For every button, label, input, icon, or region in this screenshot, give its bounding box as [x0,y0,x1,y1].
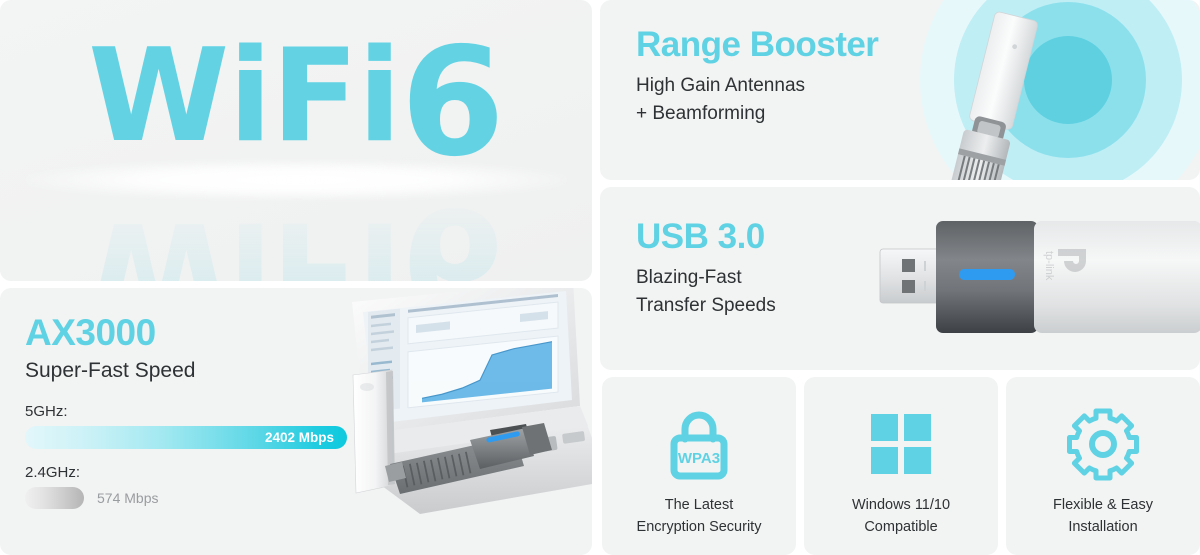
panel-usb3: USB 3.0 Blazing-Fast Transfer Speeds [600,187,1200,370]
feature-card-windows-text: Windows 11/10 Compatible [852,495,950,539]
wifi6-floor-glow [24,160,569,200]
usb3-line1: Blazing-Fast [636,267,742,289]
speed-band-5ghz: 5GHz: 2402 Mbps [25,403,349,449]
feature-card-installation: Flexible & Easy Installation [1006,377,1200,555]
feature-card-encryption-line1: The Latest [637,495,762,517]
wifi6-wordmark: WiFi6 [88,28,504,178]
feature-card-windows: Windows 11/10 Compatible [804,377,998,555]
speed-band-24ghz-label: 2.4GHz: [25,464,349,481]
panel-range-booster: Range Booster High Gain Antennas + Beamf… [600,0,1200,180]
feature-card-installation-text: Flexible & Easy Installation [1053,495,1153,539]
feature-card-encryption-line2: Encryption Security [637,517,762,539]
range-booster-title: Range Booster [636,25,878,65]
usb3-adapter-image: tp-link [876,209,1200,349]
feature-card-encryption-text: The Latest Encryption Security [637,495,762,539]
windows-logo-icon [867,405,935,483]
product-feature-graphic: WiFi6 WiFi6 AX3000 Super-Fast Speed 5GHz… [0,0,1200,555]
usb-adapter-light-body: tp-link [1034,221,1200,333]
usb3-line2: Transfer Speeds [636,295,776,317]
usb-a-connector [880,249,942,303]
laptop-with-adapter-photo [330,288,592,555]
feature-card-windows-line1: Windows 11/10 [852,495,950,517]
panel-wifi6: WiFi6 WiFi6 [0,0,592,281]
feature-card-windows-line2: Compatible [852,517,950,539]
feature-card-installation-line1: Flexible & Easy [1053,495,1153,517]
wifi6-logo-block: WiFi6 WiFi6 [0,0,592,281]
feature-card-encryption: WPA3 The Latest Encryption Security [602,377,796,555]
ax3000-subtitle: Super-Fast Speed [25,359,195,383]
range-booster-device [902,0,1092,180]
range-booster-line2: + Beamforming [636,103,765,125]
usb3-title: USB 3.0 [636,217,765,257]
wifi6-prefix-reflection: WiFi [88,193,400,281]
wifi6-prefix: WiFi [88,22,400,171]
usb-adapter-dark-body [936,221,1038,333]
feature-card-installation-line2: Installation [1053,517,1153,539]
range-booster-line1: High Gain Antennas [636,75,805,97]
wpa3-lock-icon: WPA3 [660,405,738,483]
svg-text:tp-link: tp-link [1043,251,1055,281]
speed-band-24ghz: 2.4GHz: 574 Mbps [25,464,349,509]
wpa3-badge-text: WPA3 [678,450,720,467]
wifi6-wordmark-reflection: WiFi6 [88,186,504,281]
panel-ax3000: AX3000 Super-Fast Speed 5GHz: 2402 Mbps … [0,288,592,555]
speed-bar-24ghz [25,487,84,509]
speed-bar-24ghz-value: 574 Mbps [97,490,158,506]
speed-bar-5ghz: 2402 Mbps [25,426,347,449]
gear-icon [1065,405,1141,483]
speed-band-5ghz-label: 5GHz: [25,403,349,420]
ax3000-title: AX3000 [25,312,156,354]
led-indicator [959,269,1015,280]
